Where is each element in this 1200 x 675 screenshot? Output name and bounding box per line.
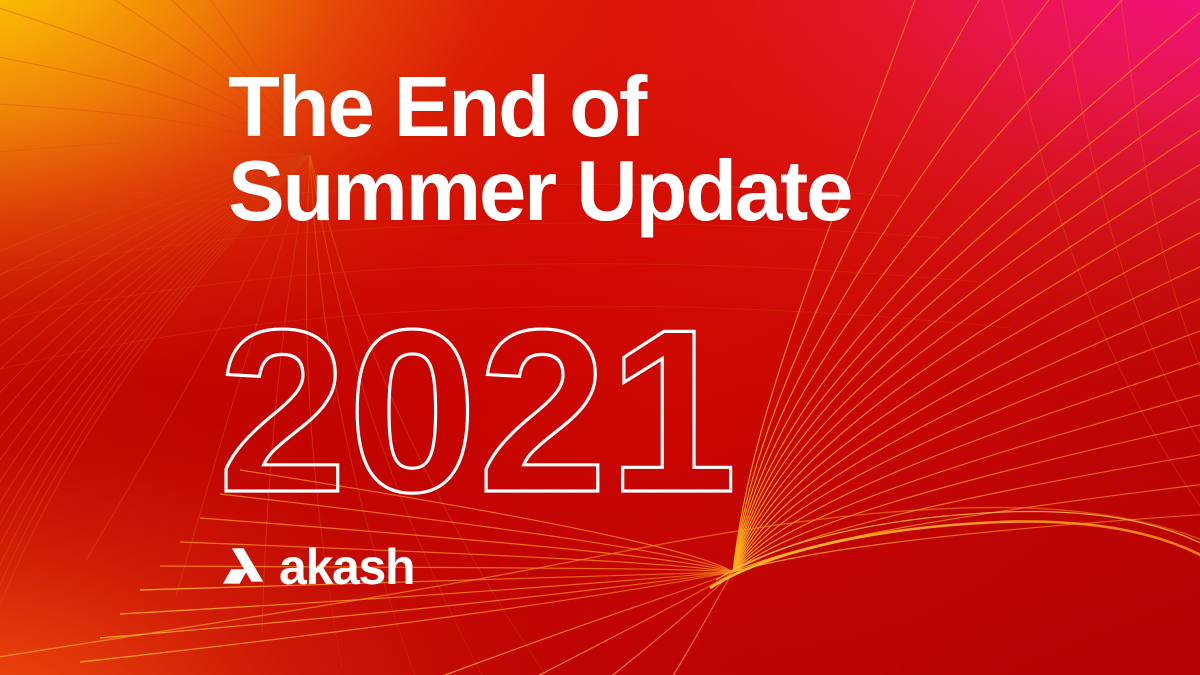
akash-triangle-logo-icon <box>219 543 267 591</box>
banner-content: The End of Summer Update 2021 akash <box>0 0 1200 675</box>
akash-summer-update-banner: The End of Summer Update 2021 akash <box>0 0 1200 675</box>
page-title: The End of Summer Update <box>228 66 1028 234</box>
year-outline-text: 2021 <box>218 296 738 528</box>
akash-logo-lockup: akash <box>219 541 414 592</box>
akash-wordmark: akash <box>279 542 414 592</box>
